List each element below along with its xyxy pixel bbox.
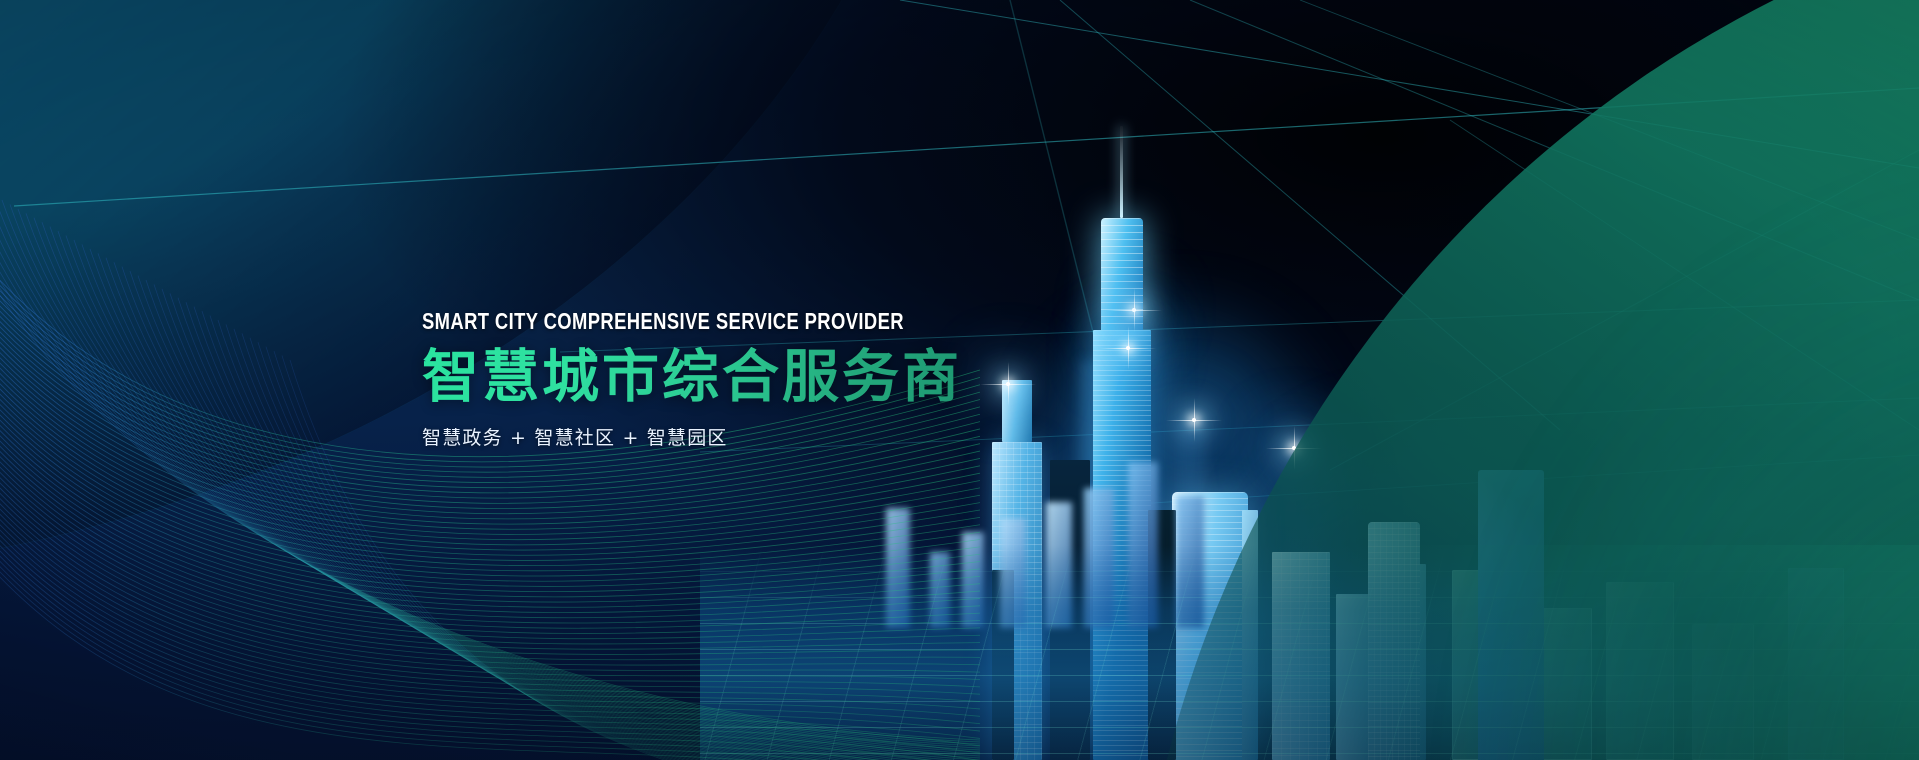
- banner-copy: SMART CITY COMPREHENSIVE SERVICE PROVIDE…: [422, 310, 1024, 450]
- banner-subline: 智慧政务 + 智慧社区 + 智慧园区: [422, 423, 1024, 450]
- banner-eyebrow: SMART CITY COMPREHENSIVE SERVICE PROVIDE…: [422, 310, 904, 333]
- banner-headline: 智慧城市综合服务商: [422, 347, 1024, 409]
- lens-flare-spire-low: [1126, 346, 1130, 350]
- lens-flare-spire: [1132, 308, 1136, 312]
- hero-banner: SMART CITY COMPREHENSIVE SERVICE PROVIDE…: [0, 0, 1919, 760]
- building-spire-crown: [1101, 218, 1143, 330]
- lens-flare-wide-tower: [1192, 418, 1196, 422]
- building-spire-needle: [1120, 126, 1123, 218]
